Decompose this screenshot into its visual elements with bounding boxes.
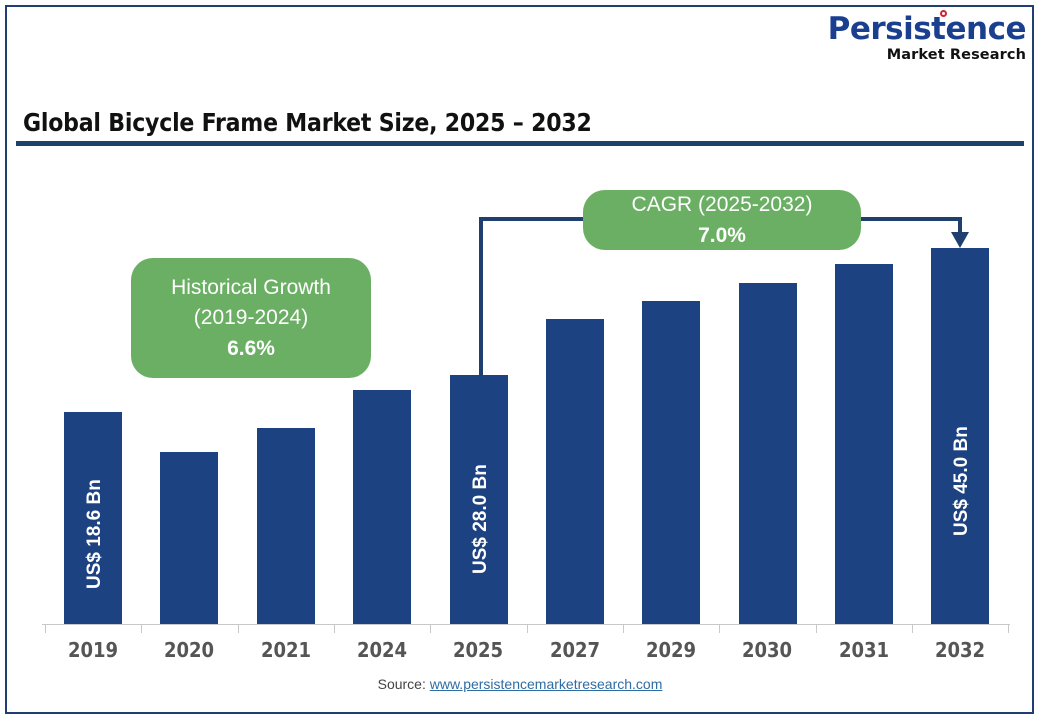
source-link[interactable]: www.persistencemarketresearch.com	[430, 676, 663, 692]
bar-2031	[835, 264, 893, 624]
axis-tick	[430, 624, 431, 633]
axis-tick	[527, 624, 528, 633]
x-label-2030: 2030	[719, 638, 815, 662]
cagr-value: 7.0%	[698, 221, 746, 250]
cagr-connector-left-vertical	[479, 217, 483, 377]
axis-tick	[912, 624, 913, 633]
axis-tick	[238, 624, 239, 633]
chart-page: Persistence Market Research Global Bicyc…	[0, 0, 1040, 720]
source-line: Source: www.persistencemarketresearch.co…	[0, 676, 1040, 692]
bar-2021	[257, 428, 315, 624]
x-label-2032: 2032	[912, 638, 1008, 662]
historical-growth-line1: Historical Growth	[171, 273, 331, 303]
source-prefix: Source:	[378, 676, 430, 692]
bar-2027	[546, 319, 604, 624]
bar-2020	[160, 452, 218, 624]
x-label-2019: 2019	[45, 638, 141, 662]
cagr-connector-left-horizontal	[479, 217, 587, 221]
bar-value-2025: US$ 28.0 Bn	[470, 464, 492, 574]
x-label-2024: 2024	[334, 638, 430, 662]
axis-tick	[45, 624, 46, 633]
bar-value-2032: US$ 45.0 Bn	[951, 426, 973, 536]
bar-value-2019: US$ 18.6 Bn	[84, 479, 106, 589]
cagr-label: CAGR (2025-2032)	[632, 190, 813, 220]
x-label-2027: 2027	[527, 638, 623, 662]
x-label-2029: 2029	[623, 638, 719, 662]
axis-tick	[334, 624, 335, 633]
x-label-2031: 2031	[816, 638, 912, 662]
bar-2030	[739, 283, 797, 624]
cagr-connector-right-horizontal	[857, 217, 962, 221]
x-label-2025: 2025	[430, 638, 526, 662]
cagr-callout: CAGR (2025-2032) 7.0%	[583, 190, 861, 250]
axis-tick	[623, 624, 624, 633]
x-axis-line	[42, 624, 1010, 625]
axis-tick	[141, 624, 142, 633]
axis-tick	[816, 624, 817, 633]
axis-tick	[719, 624, 720, 633]
historical-growth-value: 6.6%	[227, 334, 275, 363]
x-label-2021: 2021	[238, 638, 334, 662]
axis-tick	[1008, 624, 1009, 633]
x-label-2020: 2020	[141, 638, 237, 662]
bar-2029	[642, 301, 700, 624]
historical-growth-line2: (2019-2024)	[194, 303, 308, 333]
bar-2024	[353, 390, 411, 624]
historical-growth-callout: Historical Growth (2019-2024) 6.6%	[131, 258, 371, 378]
bar-chart: US$ 18.6 Bn US$ 28.0 Bn US$ 45.0 Bn 2019…	[0, 0, 1040, 720]
arrow-down-icon	[951, 232, 969, 248]
